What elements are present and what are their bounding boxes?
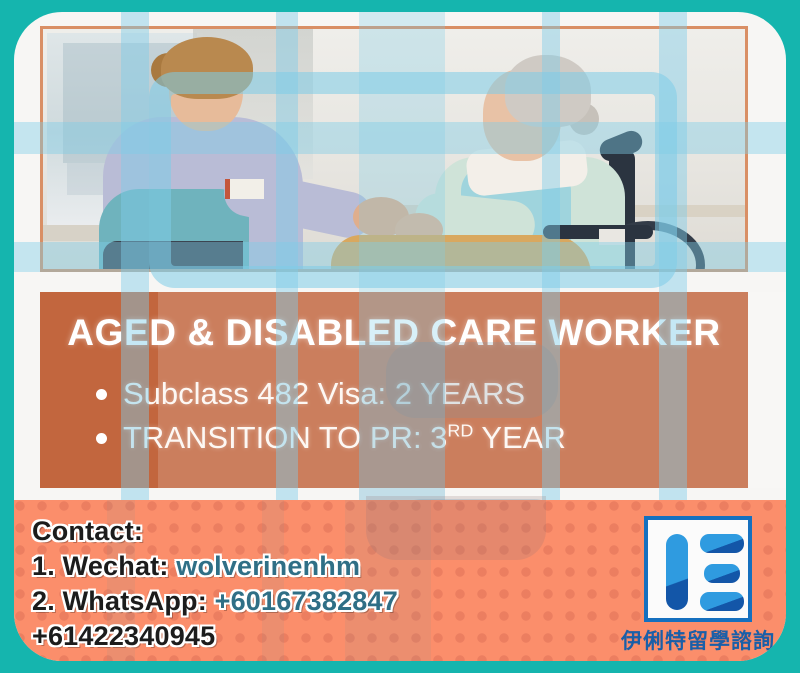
contact-heading: Contact: bbox=[32, 514, 398, 549]
logo-horizontal-bar-bottom bbox=[700, 592, 744, 611]
contact-wechat: 1. Wechat: wolverinenhm bbox=[32, 549, 398, 584]
bullet-dot-icon bbox=[96, 389, 107, 400]
page-title: AGED & DISABLED CARE WORKER bbox=[40, 312, 748, 354]
nurse-legs bbox=[103, 241, 243, 269]
poster-card: AGED & DISABLED CARE WORKER Subclass 482… bbox=[14, 12, 786, 661]
e-logo-icon bbox=[644, 516, 752, 622]
nurse-hair bbox=[161, 37, 253, 99]
contact-wechat-value[interactable]: wolverinenhm bbox=[176, 551, 360, 581]
benefit-list: Subclass 482 Visa: 2 YEARS TRANSITION TO… bbox=[96, 372, 728, 460]
contact-band: Contact: 1. Wechat: wolverinenhm 2. What… bbox=[14, 500, 786, 661]
brand-logo[interactable]: 伊俐特留學諮詢 bbox=[624, 516, 772, 655]
hero-photo bbox=[43, 29, 745, 269]
contact-wechat-label: 1. Wechat: bbox=[32, 551, 169, 581]
list-item: TRANSITION TO PR: 3RD YEAR bbox=[96, 416, 728, 460]
contact-phone-secondary-value[interactable]: +61422340945 bbox=[32, 621, 215, 651]
contact-whatsapp-value[interactable]: +60167382847 bbox=[215, 586, 398, 616]
contact-whatsapp: 2. WhatsApp: +60167382847 bbox=[32, 584, 398, 619]
wheelchair-label bbox=[599, 229, 625, 245]
brand-name: 伊俐特留學諮詢 bbox=[621, 625, 775, 655]
contact-phone-secondary: +61422340945 bbox=[32, 619, 398, 654]
lap-blanket bbox=[331, 235, 591, 269]
contact-details: Contact: 1. Wechat: wolverinenhm 2. What… bbox=[32, 514, 398, 654]
photo-frame bbox=[40, 26, 748, 272]
wheelchair-armrest bbox=[543, 225, 653, 239]
list-item: Subclass 482 Visa: 2 YEARS bbox=[96, 372, 728, 416]
logo-vertical-bar bbox=[666, 534, 688, 610]
headline-banner: AGED & DISABLED CARE WORKER Subclass 482… bbox=[40, 292, 748, 488]
list-item-text: TRANSITION TO PR: 3RD YEAR bbox=[123, 416, 566, 460]
patient-hair bbox=[505, 55, 591, 127]
poster-root: AGED & DISABLED CARE WORKER Subclass 482… bbox=[0, 0, 800, 673]
list-item-text: Subclass 482 Visa: 2 YEARS bbox=[123, 372, 525, 416]
contact-whatsapp-label: 2. WhatsApp: bbox=[32, 586, 207, 616]
bullet-dot-icon bbox=[96, 433, 107, 444]
logo-horizontal-bar-top bbox=[700, 534, 744, 553]
logo-horizontal-bar-middle bbox=[704, 564, 740, 583]
nurse-name-badge bbox=[225, 179, 264, 199]
